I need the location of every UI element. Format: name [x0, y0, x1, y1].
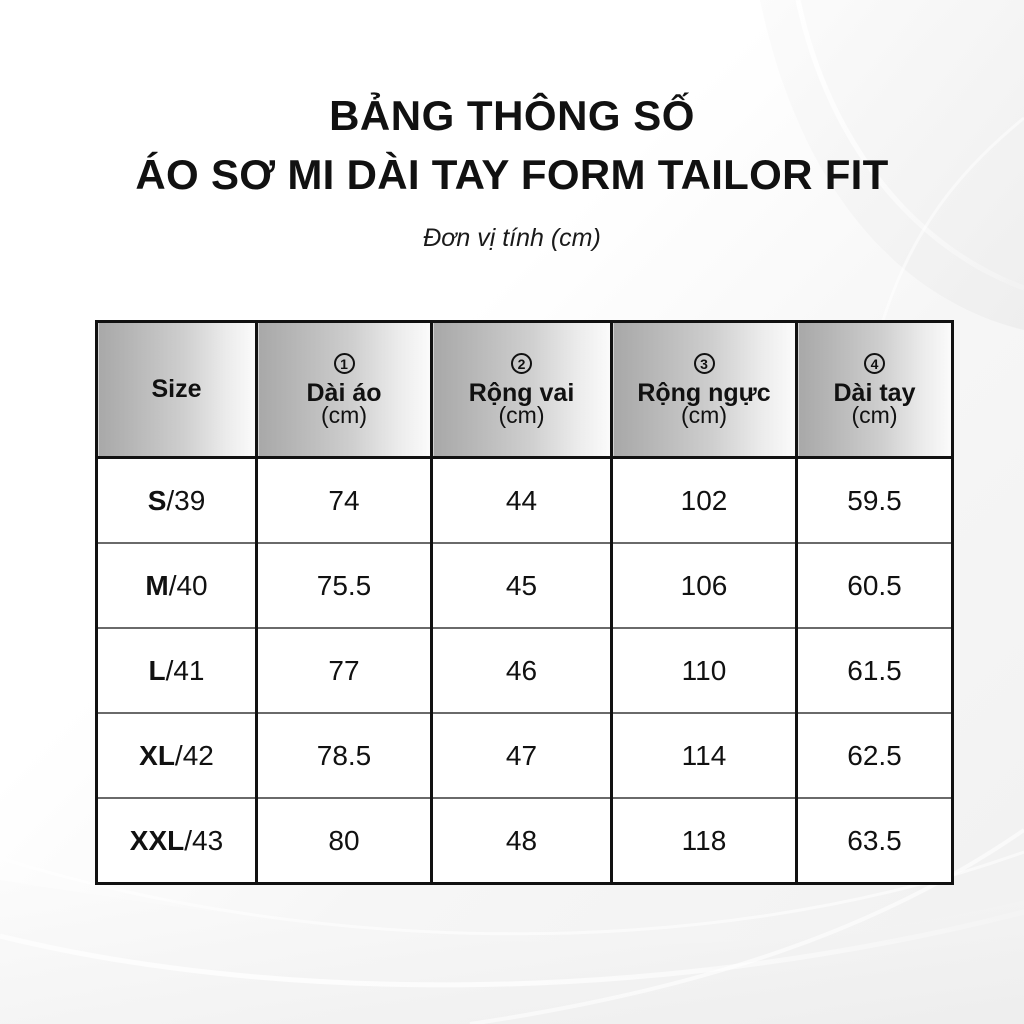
size-collar: /41	[166, 655, 205, 686]
column-header-dai-ao: 1 Dài áo (cm)	[257, 322, 432, 458]
cell-rong-vai: 44	[432, 458, 612, 544]
cell-dai-ao: 80	[257, 798, 432, 884]
size-collar: /40	[169, 570, 208, 601]
cell-rong-vai: 45	[432, 543, 612, 628]
size-code: XL	[139, 740, 175, 771]
swoosh-bottom-left-arc	[0, 912, 1024, 985]
cell-dai-tay: 61.5	[797, 628, 953, 713]
table-body: S/39 74 44 102 59.5 M/40 75.5 45 106 60.…	[97, 458, 953, 884]
cell-size: M/40	[97, 543, 257, 628]
size-code: XXL	[130, 825, 184, 856]
cell-size: XL/42	[97, 713, 257, 798]
cell-rong-vai: 48	[432, 798, 612, 884]
table-row: S/39 74 44 102 59.5	[97, 458, 953, 544]
table-row: L/41 77 46 110 61.5	[97, 628, 953, 713]
table-row: XXL/43 80 48 118 63.5	[97, 798, 953, 884]
size-table: Size 1 Dài áo (cm) 2 Rộng vai	[95, 320, 954, 885]
cell-dai-ao: 77	[257, 628, 432, 713]
cell-dai-ao: 74	[257, 458, 432, 544]
size-chart-page: BẢNG THÔNG SỐ ÁO SƠ MI DÀI TAY FORM TAIL…	[0, 0, 1024, 1024]
circled-number-3-icon: 3	[694, 353, 715, 374]
table-row: M/40 75.5 45 106 60.5	[97, 543, 953, 628]
cell-dai-ao: 75.5	[257, 543, 432, 628]
size-collar: /43	[184, 825, 223, 856]
swoosh-bottom-left-fill	[0, 880, 1024, 1024]
column-header-dai-ao-unit: (cm)	[321, 404, 367, 427]
size-code: S	[148, 485, 167, 516]
column-header-dai-tay-unit: (cm)	[852, 404, 898, 427]
column-header-rong-nguc: 3 Rộng ngực (cm)	[612, 322, 797, 458]
cell-rong-vai: 47	[432, 713, 612, 798]
column-header-size: Size	[97, 322, 257, 458]
column-header-rong-nguc-unit: (cm)	[681, 404, 727, 427]
page-header: BẢNG THÔNG SỐ ÁO SƠ MI DÀI TAY FORM TAIL…	[0, 0, 1024, 253]
cell-size: L/41	[97, 628, 257, 713]
size-table-container: Size 1 Dài áo (cm) 2 Rộng vai	[95, 320, 951, 885]
cell-dai-ao: 78.5	[257, 713, 432, 798]
column-header-rong-vai: 2 Rộng vai (cm)	[432, 322, 612, 458]
cell-size: S/39	[97, 458, 257, 544]
circled-number-1-icon: 1	[334, 353, 355, 374]
cell-dai-tay: 63.5	[797, 798, 953, 884]
table-row: XL/42 78.5 47 114 62.5	[97, 713, 953, 798]
page-title-line2: ÁO SƠ MI DÀI TAY FORM TAILOR FIT	[0, 139, 1024, 198]
page-subtitle-unit: Đơn vị tính (cm)	[0, 198, 1024, 253]
size-collar: /42	[175, 740, 214, 771]
size-collar: /39	[166, 485, 205, 516]
cell-dai-tay: 59.5	[797, 458, 953, 544]
size-code: M	[145, 570, 168, 601]
cell-dai-tay: 62.5	[797, 713, 953, 798]
cell-rong-nguc: 110	[612, 628, 797, 713]
cell-rong-nguc: 102	[612, 458, 797, 544]
column-header-rong-vai-unit: (cm)	[499, 404, 545, 427]
cell-size: XXL/43	[97, 798, 257, 884]
cell-dai-tay: 60.5	[797, 543, 953, 628]
circled-number-2-icon: 2	[511, 353, 532, 374]
column-header-size-label: Size	[151, 377, 201, 402]
cell-rong-nguc: 118	[612, 798, 797, 884]
cell-rong-nguc: 106	[612, 543, 797, 628]
table-header: Size 1 Dài áo (cm) 2 Rộng vai	[97, 322, 953, 458]
column-header-dai-tay: 4 Dài tay (cm)	[797, 322, 953, 458]
header-row: Size 1 Dài áo (cm) 2 Rộng vai	[97, 322, 953, 458]
size-code: L	[148, 655, 165, 686]
cell-rong-vai: 46	[432, 628, 612, 713]
circled-number-4-icon: 4	[864, 353, 885, 374]
page-title-line1: BẢNG THÔNG SỐ	[0, 0, 1024, 139]
cell-rong-nguc: 114	[612, 713, 797, 798]
